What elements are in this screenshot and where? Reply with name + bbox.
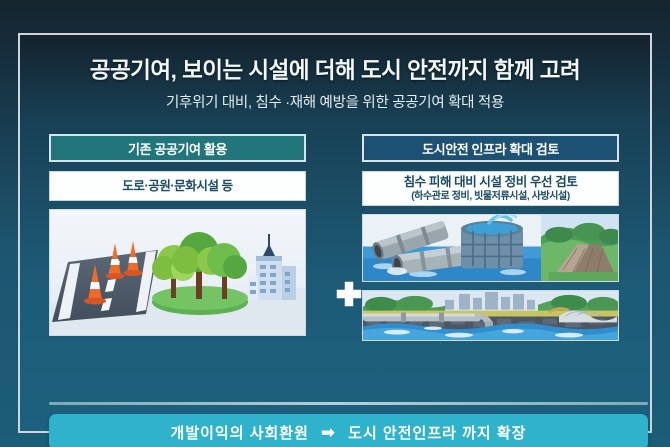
right-column-caption: 침수 피해 대비 시설 정비 우선 검토 (하수관로 정비, 빗물저류시설, 사…: [362, 171, 619, 206]
sewer-tank-dam-illustration-svg: [363, 215, 618, 281]
plus-badge: [333, 278, 365, 310]
left-column-header: 기존 공공기여 활용: [49, 134, 306, 162]
river-levee-illustration-svg: [363, 291, 618, 340]
right-caption-line-2: (하수관로 정비, 빗물저류시설, 사방시설): [411, 190, 570, 203]
footer-banner: 개발이익의 사회환원 ➡ 도시 안전인프라 까지 확장: [49, 414, 648, 447]
page-subtitle: 기후위기 대비, 침수 ·재해 예방을 위한 공공기여 확대 적용: [20, 91, 650, 112]
arrow-right-icon: ➡: [321, 424, 336, 441]
plus-icon: [333, 278, 365, 310]
footer-segment-1: 개발이익의 사회환원: [171, 422, 309, 443]
erosion-control-dam-icon: [541, 215, 618, 281]
slide-frame: 공공기여, 보이는 시설에 더해 도시 안전까지 함께 고려 기후위기 대비, …: [18, 33, 652, 433]
page-title: 공공기여, 보이는 시설에 더해 도시 안전까지 함께 고려: [20, 53, 650, 85]
right-illustration-bottom: [362, 290, 619, 341]
right-illustration-top: [362, 214, 619, 282]
left-column-caption: 도로·공원·문화시설 등: [49, 171, 306, 201]
left-illustration: [49, 209, 306, 336]
right-caption-line-1: 침수 피해 대비 시설 정비 우선 검토: [404, 175, 578, 190]
right-column: 도시안전 인프라 확대 검토 침수 피해 대비 시설 정비 우선 검토 (하수관…: [362, 134, 619, 341]
left-caption-line-1: 도로·공원·문화시설 등: [122, 179, 233, 194]
footer-divider: [49, 402, 648, 405]
road-park-illustration-svg: [50, 210, 305, 335]
right-column-header: 도시안전 인프라 확대 검토: [362, 134, 619, 162]
footer-segment-2: 도시 안전인프라 까지 확장: [348, 422, 526, 443]
slide-canvas: 공공기여, 보이는 시설에 더해 도시 안전까지 함께 고려 기후위기 대비, …: [0, 0, 670, 447]
left-column: 기존 공공기여 활용 도로·공원·문화시설 등: [49, 134, 306, 336]
